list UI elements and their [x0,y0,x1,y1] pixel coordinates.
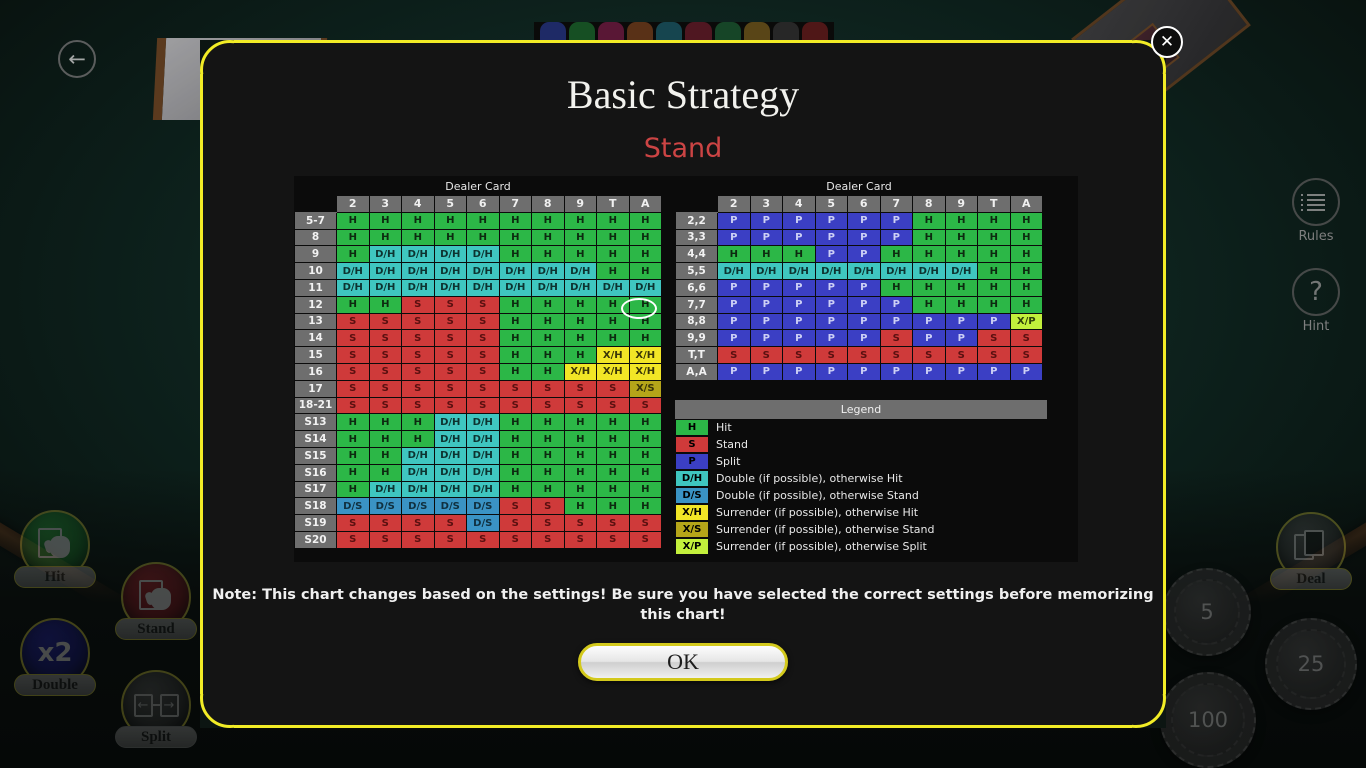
hard-cell[interactable]: H [564,296,597,313]
hard-cell[interactable]: S [467,380,500,397]
hard-cell[interactable]: H [597,330,630,347]
split-button[interactable]: ←→ Split [115,670,197,744]
hard-cell[interactable]: H [402,212,435,229]
pairs-cell[interactable]: H [978,263,1011,280]
hard-cell[interactable]: S [402,363,435,380]
hard-cell[interactable]: S [532,515,565,532]
hard-cell[interactable]: S [402,330,435,347]
hard-cell[interactable]: H [499,296,532,313]
hard-cell[interactable]: S [499,498,532,515]
pairs-cell[interactable]: H [913,246,946,263]
chip-25[interactable]: 25 [1265,618,1357,710]
hard-cell[interactable]: D/H [369,279,402,296]
hard-cell[interactable]: H [499,330,532,347]
double-button[interactable]: x2 Double [14,618,96,692]
hard-cell[interactable]: H [434,212,467,229]
hard-cell[interactable]: D/H [564,263,597,280]
pairs-cell[interactable]: S [848,347,881,364]
hit-button[interactable]: Hit [14,510,96,584]
pairs-cell[interactable]: H [718,246,751,263]
hard-cell[interactable]: H [369,464,402,481]
hard-cell[interactable]: H [629,313,662,330]
ok-button[interactable]: OK [578,643,788,681]
hard-cell[interactable]: H [499,246,532,263]
hard-cell[interactable]: S [402,531,435,548]
hard-cell[interactable]: H [597,481,630,498]
pairs-cell[interactable]: X/P [1010,313,1043,330]
hard-cell[interactable]: H [402,229,435,246]
pairs-cell[interactable]: D/H [718,263,751,280]
pairs-cell[interactable]: H [945,229,978,246]
hard-cell[interactable]: H [532,414,565,431]
hard-cell[interactable]: D/H [434,431,467,448]
hard-cell[interactable]: S [402,313,435,330]
chip-100[interactable]: 100 [1160,672,1256,768]
pairs-cell[interactable]: P [815,279,848,296]
hard-cell[interactable]: H [369,414,402,431]
hard-cell[interactable]: H [597,229,630,246]
pairs-cell[interactable]: P [848,229,881,246]
hard-cell[interactable]: H [564,498,597,515]
close-button[interactable]: ✕ [1151,26,1183,58]
pairs-cell[interactable]: D/H [880,263,913,280]
hard-cell[interactable]: S [337,515,370,532]
pairs-cell[interactable]: H [913,279,946,296]
pairs-cell[interactable]: P [718,229,751,246]
pairs-cell[interactable]: P [750,330,783,347]
pairs-cell[interactable]: D/H [913,263,946,280]
hard-cell[interactable]: S [402,397,435,414]
hard-cell[interactable]: H [337,246,370,263]
hard-cell[interactable]: H [337,464,370,481]
pairs-cell[interactable]: H [913,296,946,313]
hard-cell[interactable]: D/H [467,263,500,280]
hard-cell[interactable]: D/H [434,447,467,464]
pairs-cell[interactable]: P [783,296,816,313]
hard-cell[interactable]: H [597,212,630,229]
hard-cell[interactable]: S [434,515,467,532]
hard-cell[interactable]: S [434,330,467,347]
pairs-cell[interactable]: S [718,347,751,364]
pairs-cell[interactable]: P [880,313,913,330]
hard-cell[interactable]: H [467,229,500,246]
pairs-cell[interactable]: H [978,229,1011,246]
hard-cell[interactable]: H [564,330,597,347]
hard-cell[interactable]: H [629,246,662,263]
hard-cell[interactable]: S [597,515,630,532]
hard-cell[interactable]: D/H [369,481,402,498]
hard-cell[interactable]: H [337,481,370,498]
pairs-cell[interactable]: P [848,212,881,229]
pairs-cell[interactable]: P [848,246,881,263]
hard-cell[interactable]: S [402,296,435,313]
hard-cell[interactable]: H [499,431,532,448]
pairs-cell[interactable]: P [815,363,848,380]
hard-cell[interactable]: D/H [434,263,467,280]
hard-cell[interactable]: H [532,296,565,313]
pairs-cell[interactable]: P [718,330,751,347]
hard-cell[interactable]: S [337,531,370,548]
pairs-cell[interactable]: H [1010,296,1043,313]
hard-cell[interactable]: S [434,296,467,313]
pairs-cell[interactable]: P [750,313,783,330]
hard-cell[interactable]: H [629,330,662,347]
pairs-cell[interactable]: P [783,279,816,296]
hard-cell[interactable]: S [337,363,370,380]
pairs-cell[interactable]: S [945,347,978,364]
hard-cell[interactable]: H [532,363,565,380]
hard-cell[interactable]: D/S [402,498,435,515]
hard-cell[interactable]: D/H [467,414,500,431]
hard-cell[interactable]: D/H [402,447,435,464]
hard-cell[interactable]: S [532,380,565,397]
pairs-cell[interactable]: H [978,246,1011,263]
hard-cell[interactable]: H [629,296,662,313]
pairs-cell[interactable]: S [1010,347,1043,364]
pairs-cell[interactable]: H [1010,229,1043,246]
hard-cell[interactable]: H [337,447,370,464]
hard-cell[interactable]: H [629,229,662,246]
hard-cell[interactable]: H [532,330,565,347]
hard-cell[interactable]: S [402,347,435,364]
hard-cell[interactable]: H [597,296,630,313]
pairs-cell[interactable]: P [783,330,816,347]
hard-cell[interactable]: S [467,330,500,347]
hard-cell[interactable]: D/H [434,246,467,263]
hard-cell[interactable]: H [467,212,500,229]
hard-cell[interactable]: S [564,380,597,397]
hard-cell[interactable]: H [499,313,532,330]
hard-cell[interactable]: H [564,447,597,464]
rules-button[interactable] [1292,178,1340,226]
hard-cell[interactable]: D/H [564,279,597,296]
pairs-cell[interactable]: P [718,313,751,330]
hard-cell[interactable]: H [337,431,370,448]
stand-button[interactable]: Stand [115,562,197,636]
hard-cell[interactable]: D/H [402,279,435,296]
pairs-cell[interactable]: P [718,363,751,380]
pairs-cell[interactable]: H [1010,279,1043,296]
hard-cell[interactable]: H [369,229,402,246]
hard-cell[interactable]: S [369,515,402,532]
hard-cell[interactable]: D/H [467,279,500,296]
hard-cell[interactable]: S [629,397,662,414]
hard-cell[interactable]: S [337,397,370,414]
hard-cell[interactable]: H [597,246,630,263]
pairs-cell[interactable]: H [783,246,816,263]
hard-cell[interactable]: H [532,447,565,464]
pairs-cell[interactable]: P [848,313,881,330]
pairs-cell[interactable]: H [913,229,946,246]
pairs-cell[interactable]: P [750,229,783,246]
pairs-cell[interactable]: H [945,212,978,229]
hard-cell[interactable]: S [532,498,565,515]
hard-cell[interactable]: S [369,347,402,364]
hard-cell[interactable]: H [337,296,370,313]
pairs-cell[interactable]: P [815,246,848,263]
pairs-cell[interactable]: H [913,212,946,229]
pairs-cell[interactable]: P [945,313,978,330]
pairs-cell[interactable]: P [978,313,1011,330]
hard-cell[interactable]: S [402,380,435,397]
hard-cell[interactable]: S [337,330,370,347]
pairs-cell[interactable]: P [783,229,816,246]
hard-cell[interactable]: S [532,397,565,414]
hard-cell[interactable]: X/S [629,380,662,397]
hard-cell[interactable]: H [369,212,402,229]
hard-cell[interactable]: H [402,414,435,431]
hint-button[interactable]: ? [1292,268,1340,316]
hard-cell[interactable]: H [629,263,662,280]
pairs-cell[interactable]: D/H [945,263,978,280]
pairs-cell[interactable]: P [880,229,913,246]
hard-cell[interactable]: S [629,515,662,532]
hard-cell[interactable]: H [629,481,662,498]
hard-cell[interactable]: D/S [467,515,500,532]
hard-cell[interactable]: H [629,447,662,464]
pairs-cell[interactable]: H [945,279,978,296]
hard-cell[interactable]: D/H [532,279,565,296]
pairs-cell[interactable]: P [750,212,783,229]
pairs-cell[interactable]: P [783,363,816,380]
hard-cell[interactable]: S [499,380,532,397]
hard-cell[interactable]: H [532,347,565,364]
hard-cell[interactable]: S [499,531,532,548]
hard-cell[interactable]: H [402,431,435,448]
hard-cell[interactable]: S [597,380,630,397]
pairs-cell[interactable]: H [945,296,978,313]
hard-cell[interactable]: D/S [369,498,402,515]
hard-cell[interactable]: H [597,464,630,481]
hard-cell[interactable]: D/H [499,263,532,280]
hard-cell[interactable]: H [564,229,597,246]
hard-cell[interactable]: H [564,212,597,229]
hard-cell[interactable]: D/H [434,414,467,431]
hard-cell[interactable]: S [337,313,370,330]
hard-cell[interactable]: H [629,498,662,515]
hard-cell[interactable]: D/H [337,279,370,296]
pairs-cell[interactable]: S [783,347,816,364]
pairs-cell[interactable]: P [718,279,751,296]
hard-cell[interactable]: S [434,380,467,397]
hard-cell[interactable]: S [499,515,532,532]
pairs-cell[interactable]: D/H [848,263,881,280]
hard-cell[interactable]: H [629,431,662,448]
hard-cell[interactable]: H [597,431,630,448]
pairs-cell[interactable]: P [978,363,1011,380]
pairs-cell[interactable]: P [815,296,848,313]
pairs-cell[interactable]: S [750,347,783,364]
hard-cell[interactable]: D/H [467,246,500,263]
hard-cell[interactable]: H [564,481,597,498]
hard-cell[interactable]: H [564,313,597,330]
hard-cell[interactable]: S [467,363,500,380]
hard-cell[interactable]: H [337,212,370,229]
hard-cell[interactable]: H [369,447,402,464]
hard-cell[interactable]: H [499,229,532,246]
pairs-cell[interactable]: P [880,212,913,229]
pairs-cell[interactable]: P [815,330,848,347]
pairs-cell[interactable]: H [1010,263,1043,280]
pairs-cell[interactable]: P [750,296,783,313]
pairs-cell[interactable]: P [945,330,978,347]
hard-cell[interactable]: H [499,481,532,498]
hard-cell[interactable]: S [369,531,402,548]
hard-cell[interactable]: D/H [467,481,500,498]
pairs-cell[interactable]: H [750,246,783,263]
hard-cell[interactable]: H [337,229,370,246]
hard-cell[interactable]: S [434,347,467,364]
hard-cell[interactable]: S [467,397,500,414]
hard-cell[interactable]: H [629,464,662,481]
hard-cell[interactable]: D/S [467,498,500,515]
hard-cell[interactable]: H [532,229,565,246]
hard-cell[interactable]: H [564,246,597,263]
pairs-cell[interactable]: S [913,347,946,364]
hard-cell[interactable]: S [467,347,500,364]
hard-cell[interactable]: S [597,531,630,548]
pairs-cell[interactable]: P [815,212,848,229]
hard-cell[interactable]: H [597,447,630,464]
hard-cell[interactable]: S [434,363,467,380]
hard-cell[interactable]: S [369,330,402,347]
pairs-cell[interactable]: H [978,212,1011,229]
hard-cell[interactable]: D/H [402,246,435,263]
pairs-cell[interactable]: P [913,313,946,330]
hard-cell[interactable]: S [629,531,662,548]
hard-cell[interactable]: H [499,447,532,464]
pairs-cell[interactable]: P [880,296,913,313]
hard-cell[interactable]: H [499,414,532,431]
hard-cell[interactable]: H [597,498,630,515]
hard-cell[interactable]: S [337,380,370,397]
pairs-cell[interactable]: S [978,347,1011,364]
hard-cell[interactable]: S [532,531,565,548]
hard-cell[interactable]: S [467,531,500,548]
hard-cell[interactable]: X/H [629,363,662,380]
pairs-cell[interactable]: P [848,296,881,313]
pairs-cell[interactable]: P [848,279,881,296]
hard-cell[interactable]: S [434,313,467,330]
hard-cell[interactable]: H [597,263,630,280]
hard-cell[interactable]: S [467,313,500,330]
hard-cell[interactable]: X/H [597,347,630,364]
hard-cell[interactable]: H [532,246,565,263]
hard-cell[interactable]: H [532,464,565,481]
pairs-cell[interactable]: D/H [815,263,848,280]
pairs-cell[interactable]: S [1010,330,1043,347]
pairs-cell[interactable]: H [1010,246,1043,263]
hard-cell[interactable]: D/H [402,464,435,481]
pairs-cell[interactable]: P [750,279,783,296]
hard-cell[interactable]: H [629,212,662,229]
pairs-cell[interactable]: H [880,246,913,263]
pairs-cell[interactable]: S [880,330,913,347]
hard-cell[interactable]: S [564,531,597,548]
hard-cell[interactable]: H [629,414,662,431]
hard-cell[interactable]: D/H [434,481,467,498]
hard-cell[interactable]: H [369,296,402,313]
hard-cell[interactable]: H [499,212,532,229]
hard-cell[interactable]: S [369,363,402,380]
hard-cell[interactable]: H [532,431,565,448]
pairs-cell[interactable]: P [718,212,751,229]
pairs-cell[interactable]: P [1010,363,1043,380]
hard-cell[interactable]: S [434,397,467,414]
hard-cell[interactable]: H [597,313,630,330]
hard-cell[interactable]: H [564,414,597,431]
pairs-cell[interactable]: P [848,363,881,380]
pairs-cell[interactable]: P [750,363,783,380]
pairs-cell[interactable]: P [815,229,848,246]
hard-cell[interactable]: D/H [434,279,467,296]
hard-cell[interactable]: H [564,431,597,448]
back-button[interactable]: ← [58,40,96,78]
hard-cell[interactable]: H [532,481,565,498]
hard-cell[interactable]: S [499,397,532,414]
pairs-cell[interactable]: S [880,347,913,364]
hard-cell[interactable]: S [564,515,597,532]
pairs-cell[interactable]: P [913,330,946,347]
hard-cell[interactable]: D/H [402,263,435,280]
hard-cell[interactable]: S [369,397,402,414]
hard-cell[interactable]: D/H [402,481,435,498]
hard-cell[interactable]: H [564,347,597,364]
hard-cell[interactable]: S [337,347,370,364]
hard-cell[interactable]: D/H [532,263,565,280]
hard-cell[interactable]: D/H [467,464,500,481]
hard-cell[interactable]: D/H [337,263,370,280]
hard-cell[interactable]: H [369,431,402,448]
hard-cell[interactable]: D/H [467,431,500,448]
hard-cell[interactable]: D/H [629,279,662,296]
pairs-cell[interactable]: P [945,363,978,380]
hard-cell[interactable]: S [434,531,467,548]
hard-cell[interactable]: H [499,347,532,364]
hard-cell[interactable]: H [499,464,532,481]
hard-cell[interactable]: S [597,397,630,414]
hard-cell[interactable]: H [532,212,565,229]
hard-cell[interactable]: S [369,313,402,330]
hard-cell[interactable]: D/H [369,246,402,263]
hard-cell[interactable]: S [564,397,597,414]
hard-cell[interactable]: D/S [434,498,467,515]
hard-cell[interactable]: H [564,464,597,481]
pairs-cell[interactable]: H [945,246,978,263]
hard-cell[interactable]: X/H [564,363,597,380]
hard-cell[interactable]: H [499,363,532,380]
pairs-cell[interactable]: P [880,363,913,380]
pairs-cell[interactable]: H [978,296,1011,313]
pairs-cell[interactable]: D/H [783,263,816,280]
hard-cell[interactable]: H [532,313,565,330]
hard-cell[interactable]: X/H [629,347,662,364]
hard-cell[interactable]: D/H [369,263,402,280]
pairs-cell[interactable]: P [718,296,751,313]
pairs-cell[interactable]: P [815,313,848,330]
hard-cell[interactable]: S [467,296,500,313]
pairs-cell[interactable]: S [978,330,1011,347]
hard-cell[interactable]: H [337,414,370,431]
hard-cell[interactable]: D/H [597,279,630,296]
hard-cell[interactable]: H [434,229,467,246]
hard-cell[interactable]: D/H [499,279,532,296]
pairs-cell[interactable]: S [815,347,848,364]
hard-cell[interactable]: X/H [597,363,630,380]
hard-cell[interactable]: S [369,380,402,397]
pairs-cell[interactable]: H [880,279,913,296]
hard-cell[interactable]: D/H [434,464,467,481]
